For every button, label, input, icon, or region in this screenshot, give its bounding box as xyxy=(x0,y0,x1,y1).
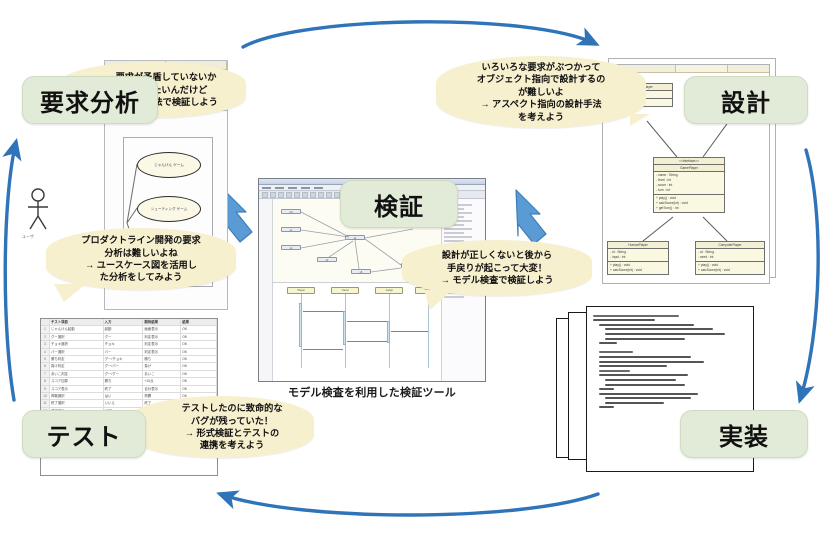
message-arrow xyxy=(303,311,343,312)
table-cell: 判定表示 xyxy=(143,341,181,347)
table-row: 7あいこ判定グー/グーあいこOK xyxy=(41,371,217,378)
table-cell: 11 xyxy=(41,400,50,406)
table-cell: スコア表示 xyxy=(50,386,104,392)
table-cell: グー xyxy=(104,334,144,340)
source-code-body xyxy=(587,307,753,416)
sequence-object: :Judge xyxy=(375,287,403,294)
table-cell: 判定表示 xyxy=(143,349,181,355)
curved-arrow-left-icon xyxy=(220,494,598,515)
table-cell: 10 xyxy=(41,393,50,399)
table-cell: 画面表示 xyxy=(143,326,181,332)
table-cell: OK xyxy=(181,341,217,347)
sequence-object: :Player xyxy=(287,287,315,294)
column-header: テスト項目 xyxy=(50,319,104,325)
table-cell: パー xyxy=(104,349,144,355)
message-arrow xyxy=(347,341,387,342)
activation-bar xyxy=(299,303,302,347)
tool-left-rail xyxy=(259,199,273,382)
bubble-analysis-text: プロダクトライン開発の要求 分析は難しいよね → ユースケース図を活用し た分析… xyxy=(81,234,200,284)
table-cell: グー/グー xyxy=(104,371,144,377)
table-cell: 1 xyxy=(41,326,50,332)
curved-arrow-right-icon xyxy=(243,22,596,47)
table-row: 6負け判定グー/パー負けOK xyxy=(41,363,217,370)
bubble-design-text: いろいろな要求がぶつかって オブジェクト指向で設計するの が難しいよ → アスペ… xyxy=(477,61,606,123)
phase-label-verification: 検証 xyxy=(340,180,458,228)
table-row: 3チョキ選択チョキ判定表示OK xyxy=(41,341,217,348)
table-row: 9スコア表示終了合計表示OK xyxy=(41,386,217,393)
table-cell: OK xyxy=(181,371,217,377)
phase-label-test: テスト xyxy=(22,410,146,458)
bubble-verification-text: 設計が正しくないと後から 手戻りが起こって大変！ → モデル検査で検証しよう xyxy=(441,249,554,286)
table-row: 4パー選択パー判定表示OK xyxy=(41,349,217,356)
phase-label-design: 設計 xyxy=(684,76,808,124)
table-cell: はい xyxy=(104,393,144,399)
table-cell: 勝ち xyxy=(143,356,181,362)
table-cell: 7 xyxy=(41,371,50,377)
tool-caption: モデル検査を利用した検証ツール xyxy=(258,384,486,400)
table-cell: 再戦選択 xyxy=(50,393,104,399)
table-cell: 終了選択 xyxy=(50,400,104,406)
table-cell: 8 xyxy=(41,378,50,384)
activation-bar xyxy=(343,311,346,345)
usecase-actor-label: ユーザ xyxy=(22,234,34,240)
phase-label-implementation: 実装 xyxy=(680,410,808,458)
lifecycle-verification-diagram: ひとりでゲームアプリケーション じゃんけん ゲーム シューティング ゲーム パズ… xyxy=(0,0,840,535)
sequence-diagram-view: :Player :Game :Judge :Score xyxy=(273,283,441,382)
usecase-actor-icon xyxy=(24,188,52,232)
table-cell: 負け判定 xyxy=(50,363,104,369)
table-cell: OK xyxy=(181,356,217,362)
table-cell: OK xyxy=(181,363,217,369)
table-cell: 3 xyxy=(41,341,50,347)
bubble-tail xyxy=(630,114,650,126)
table-cell: 勝ち判定 xyxy=(50,356,104,362)
sequence-object: :Game xyxy=(331,287,359,294)
table-row: 5勝ち判定グー/チョキ勝ちOK xyxy=(41,356,217,363)
column-header: 入力 xyxy=(104,319,144,325)
bubble-design: いろいろな要求がぶつかって オブジェクト指向で設計するの が難しいよ → アスペ… xyxy=(436,56,646,128)
column-header xyxy=(41,319,50,325)
bubble-test: テストしたのに致命的な バグが残っていた！ → 形式検証とテストの 連携を考えよ… xyxy=(128,396,314,458)
table-cell: チョキ xyxy=(104,341,144,347)
bubble-tail xyxy=(54,284,86,302)
table-cell: 4 xyxy=(41,349,50,355)
table-cell: 6 xyxy=(41,363,50,369)
curved-arrow-down-icon xyxy=(800,150,818,400)
table-cell: グー/チョキ xyxy=(104,356,144,362)
table-row: 2グー選択グー判定表示OK xyxy=(41,334,217,341)
table-cell: OK xyxy=(181,326,217,332)
table-cell: 起動 xyxy=(104,326,144,332)
table-row: 1じゃんけん起動起動画面表示OK xyxy=(41,326,217,333)
table-cell: 9 xyxy=(41,386,50,392)
table-row: 8スコア加算勝ち+10点OK xyxy=(41,378,217,385)
phase-label-requirement-analysis: 要求分析 xyxy=(22,76,158,124)
bubble-analysis: プロダクトライン開発の要求 分析は難しいよね → ユースケース図を活用し た分析… xyxy=(46,228,236,290)
table-cell: チョキ選択 xyxy=(50,341,104,347)
table-cell: 負け xyxy=(143,363,181,369)
table-cell: あいこ xyxy=(143,371,181,377)
curved-arrow-up-icon xyxy=(5,142,16,400)
table-cell: OK xyxy=(181,386,217,392)
table-cell: 5 xyxy=(41,356,50,362)
bubble-test-text: テストしたのに致命的な バグが残っていた！ → 形式検証とテストの 連携を考えよ… xyxy=(181,402,282,452)
table-cell: あいこ判定 xyxy=(50,371,104,377)
table-cell: スコア加算 xyxy=(50,378,104,384)
table-cell: OK xyxy=(181,334,217,340)
table-cell: 判定表示 xyxy=(143,334,181,340)
table-cell: 2 xyxy=(41,334,50,340)
column-header: 期待結果 xyxy=(143,319,181,325)
table-cell: パー選択 xyxy=(50,349,104,355)
table-cell: いいえ xyxy=(104,400,144,406)
thick-arrow-right-icon xyxy=(516,190,546,244)
table-cell: OK xyxy=(181,378,217,384)
table-cell: OK xyxy=(181,349,217,355)
table-cell: 終了 xyxy=(104,386,144,392)
bubble-tail xyxy=(424,290,452,310)
message-arrow xyxy=(347,321,387,322)
table-cell: じゃんけん起動 xyxy=(50,326,104,332)
message-arrow xyxy=(303,349,343,350)
bubble-verification: 設計が正しくないと後から 手戻りが起こって大変！ → モデル検査で検証しよう xyxy=(402,240,592,296)
table-cell: +10点 xyxy=(143,378,181,384)
column-header: 結果 xyxy=(181,319,217,325)
table-cell: 勝ち xyxy=(104,378,144,384)
activation-bar xyxy=(387,321,390,343)
table-cell: グー/パー xyxy=(104,363,144,369)
table-cell: グー選択 xyxy=(50,334,104,340)
message-arrow xyxy=(391,331,428,332)
table-cell: 合計表示 xyxy=(143,386,181,392)
table-header-row: テスト項目 入力 期待結果 結果 xyxy=(41,319,217,326)
